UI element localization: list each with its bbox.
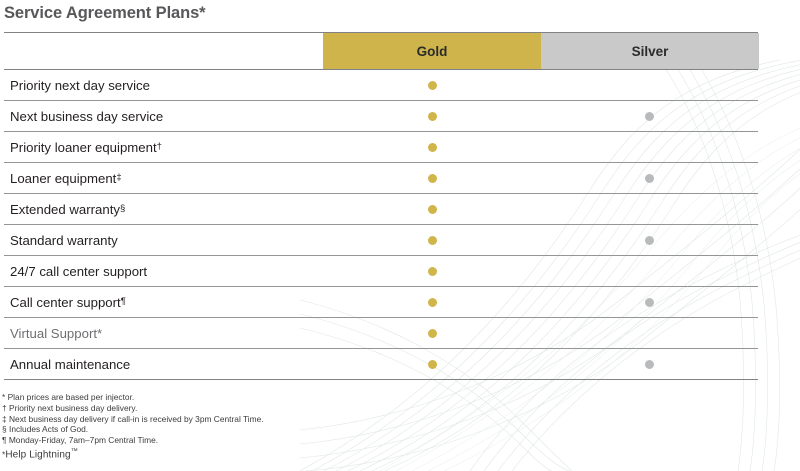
gold-included-dot	[428, 236, 437, 245]
gold-included-dot	[428, 143, 437, 152]
footnote-text: Includes Acts of God.	[7, 424, 88, 434]
trademark-symbol: ™	[71, 448, 78, 455]
footnote-text: Monday-Friday, 7am–7pm Central Time.	[7, 435, 159, 445]
gold-included-dot	[428, 360, 437, 369]
feature-label: Annual maintenance	[10, 349, 130, 379]
silver-included-dot	[645, 360, 654, 369]
column-header-silver: Silver	[541, 33, 759, 69]
gold-included-dot	[428, 174, 437, 183]
silver-included-dot	[645, 174, 654, 183]
silver-included-dot	[645, 298, 654, 307]
footnote-line: ¶ Monday-Friday, 7am–7pm Central Time.	[2, 435, 264, 446]
footnote-text: Plan prices are based per injector.	[5, 392, 134, 402]
table-row: Extended warranty§	[4, 194, 758, 225]
gold-included-dot	[428, 112, 437, 121]
feature-label: Standard warranty	[10, 225, 118, 255]
gold-included-dot	[428, 298, 437, 307]
silver-included-dot	[645, 236, 654, 245]
table-row: Next business day service	[4, 101, 758, 132]
table-body: Priority next day serviceNext business d…	[4, 70, 758, 380]
table-row: Standard warranty	[4, 225, 758, 256]
table-row: Loaner equipment‡	[4, 163, 758, 194]
table-row: Call center support¶	[4, 287, 758, 318]
footnote-line: † Priority next business day delivery.	[2, 403, 264, 414]
footnote-text: Next business day delivery if call-in is…	[7, 414, 264, 424]
table-row: Annual maintenance	[4, 349, 758, 380]
footnote-line: ‡ Next business day delivery if call-in …	[2, 414, 264, 425]
footnote-text: Help Lightning	[5, 449, 70, 460]
feature-label: Next business day service	[10, 101, 163, 131]
gold-included-dot	[428, 81, 437, 90]
feature-label: Extended warranty§	[10, 194, 125, 224]
gold-included-dot	[428, 329, 437, 338]
feature-label: Loaner equipment‡	[10, 163, 122, 193]
feature-label: Virtual Support*	[10, 318, 102, 348]
feature-label: 24/7 call center support	[10, 256, 147, 286]
feature-label: Call center support¶	[10, 287, 126, 317]
footnote-text: Priority next business day delivery.	[7, 403, 138, 413]
gold-included-dot	[428, 267, 437, 276]
feature-label: Priority next day service	[10, 70, 150, 100]
footnotes-block: * Plan prices are based per injector.† P…	[2, 392, 264, 461]
table-row: Priority next day service	[4, 70, 758, 101]
table-row: 24/7 call center support	[4, 256, 758, 287]
footnote-line: *Help Lightning™	[2, 446, 264, 461]
gold-included-dot	[428, 205, 437, 214]
table-row: Virtual Support*	[4, 318, 758, 349]
footnote-line: * Plan prices are based per injector.	[2, 392, 264, 403]
silver-included-dot	[645, 112, 654, 121]
column-header-gold: Gold	[323, 33, 541, 69]
page-title: Service Agreement Plans*	[4, 4, 206, 23]
service-plans-table: Gold Silver Priority next day serviceNex…	[4, 32, 758, 380]
table-row: Priority loaner equipment†	[4, 132, 758, 163]
footnote-line: § Includes Acts of God.	[2, 424, 264, 435]
table-header-row: Gold Silver	[4, 32, 758, 70]
feature-label: Priority loaner equipment†	[10, 132, 162, 162]
